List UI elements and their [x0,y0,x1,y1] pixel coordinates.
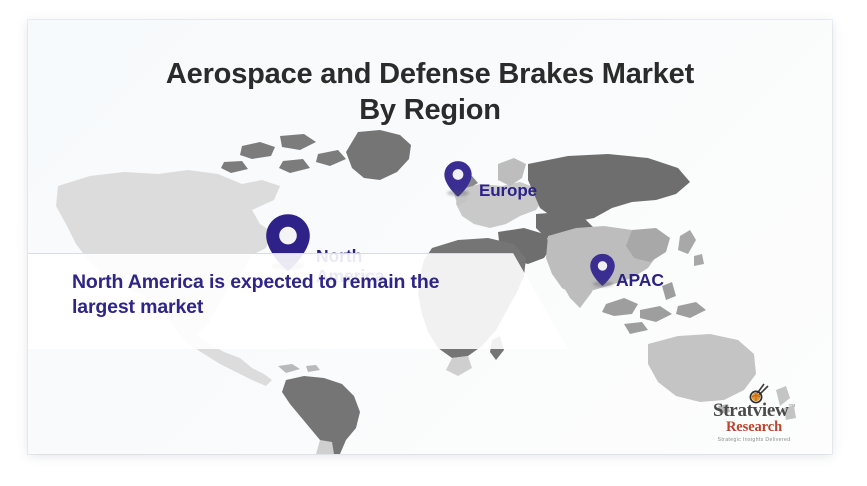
map-marker-label-apac: APAC [616,271,664,291]
greenland-shape [346,130,411,180]
japan-shape [678,230,704,266]
brand-logo[interactable]: Stratview™ Research Strategic Insights D… [698,382,810,444]
africa-south-shape [446,356,472,376]
infographic-panel: Aerospace and Defense Brakes Market By R… [28,20,832,454]
russia-shape [528,154,690,222]
screenshot-root: Aerospace and Defense Brakes Market By R… [0,0,867,486]
map-marker-apac[interactable] [589,253,616,286]
south-america-south-shape [316,440,334,454]
logo-tagline: Strategic Insights Delivered [698,437,810,443]
philippines-shape [662,282,676,300]
map-marker-label-europe: Europe [479,181,537,200]
sea-islands-shape [602,298,706,334]
map-marker-europe[interactable] [443,160,473,197]
logo-name: Stratview [713,400,788,421]
page-title: Aerospace and Defense Brakes Market By R… [28,56,832,128]
logo-trademark: ™ [788,403,795,411]
arctic-islands-shape [221,134,346,173]
caption-text: North America is expected to remain the … [72,270,542,320]
caribbean-shape [278,364,320,373]
logo-wordmark: Stratview™ [698,400,810,422]
